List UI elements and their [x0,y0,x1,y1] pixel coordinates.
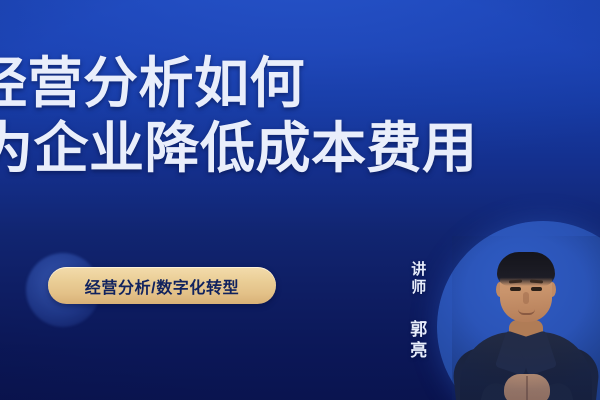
speaker-name-label: 郭 亮 [404,320,434,361]
speaker-name-char-1: 郭 [404,320,434,341]
speaker-role-char-2: 师 [404,279,434,297]
speaker-name-char-2: 亮 [404,341,434,362]
speaker-role-char-1: 讲 [404,261,434,279]
page-title: 经营分析如何 为企业降低成本费用 [0,56,600,176]
category-tag-label: 经营分析/数字化转型 [85,274,239,298]
speaker-role-label: 讲 师 [404,261,434,298]
category-tag-pill[interactable]: 经营分析/数字化转型 [48,267,276,304]
portrait-shading-overlay [452,236,600,400]
title-line-2: 为企业降低成本费用 [0,121,600,176]
title-line-1: 经营分析如何 [0,56,600,121]
speaker-portrait-photo [452,236,600,400]
course-title-card: 经营分析如何 为企业降低成本费用 经营分析/数字化转型 讲 师 郭 亮 [0,0,600,400]
